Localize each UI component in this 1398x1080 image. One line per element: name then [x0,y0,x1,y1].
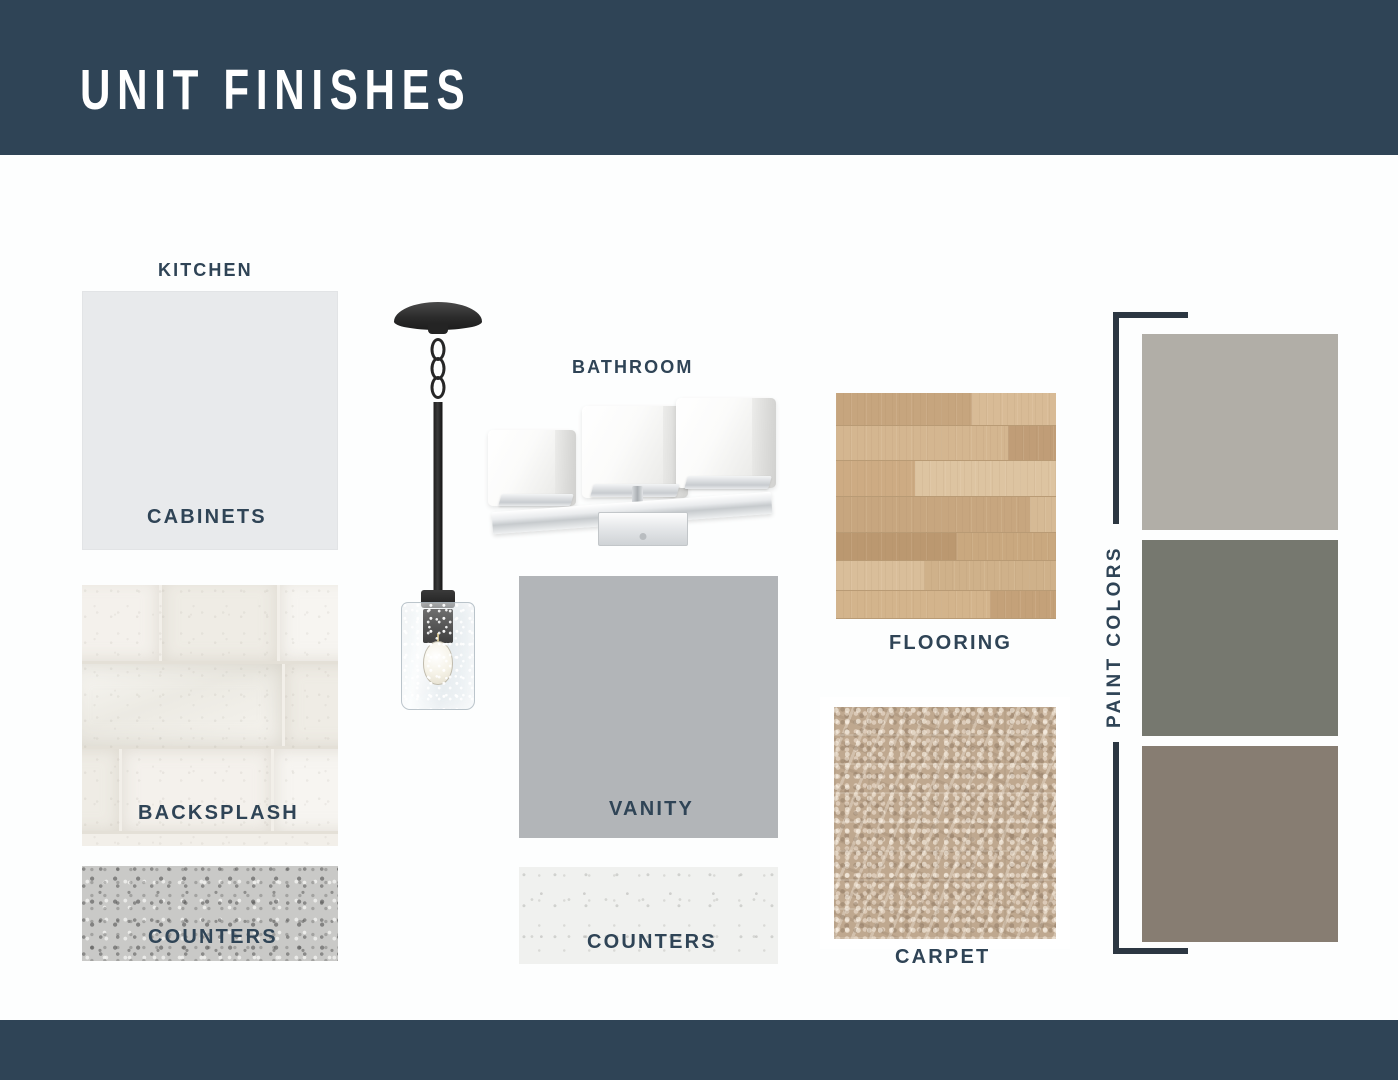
pendant-seeded-glass-texture [402,603,474,709]
pendant-rod [434,402,443,596]
paint-colors-label: PAINT COLORS [1104,545,1126,728]
swatch-label-kitchen-counters: COUNTERS [148,926,278,949]
section-heading-bathroom: BATHROOM [572,357,693,378]
vanity-light-socket-plate [498,494,573,506]
paint-bracket-top-stem [1113,312,1119,524]
paint-bracket-bottom-arm [1113,948,1188,954]
paint-chip-warm-taupe[interactable] [1142,746,1338,942]
kitchen-pendant-light-icon [380,302,496,722]
section-heading-kitchen: KITCHEN [158,260,253,281]
vanity-light-shade [676,398,776,488]
pendant-canopy [394,302,482,330]
swatch-label-vanity: VANITY [609,798,694,821]
paint-chip-light-warm-gray[interactable] [1142,334,1338,530]
paint-bracket-top-arm [1113,312,1188,318]
swatch-label-backsplash: BACKSPLASH [138,802,299,825]
vanity-light-socket-plate [684,476,772,489]
pendant-chain-link [431,376,446,399]
footer-band [0,1020,1398,1080]
page-title: UNIT FINISHES [80,62,471,119]
pendant-glass-shade [401,602,475,710]
swatch-label-cabinets: CABINETS [147,506,267,529]
bathroom-vanity-light-icon [480,390,790,540]
swatch-label-flooring: FLOORING [889,632,1012,655]
swatch-label-bathroom-counters: COUNTERS [587,931,717,954]
paint-chip-dark-gray-green[interactable] [1142,540,1338,736]
swatch-flooring[interactable] [836,393,1056,619]
swatch-carpet[interactable] [820,697,1070,949]
swatch-label-carpet: CARPET [895,946,990,969]
paint-bracket-bottom-stem [1113,742,1119,954]
finish-board: UNIT FINISHES KITCHEN CABINETS BACKSPLAS… [0,0,1398,1080]
carpet-pile-texture [834,707,1056,939]
vanity-light-backplate [598,512,688,546]
